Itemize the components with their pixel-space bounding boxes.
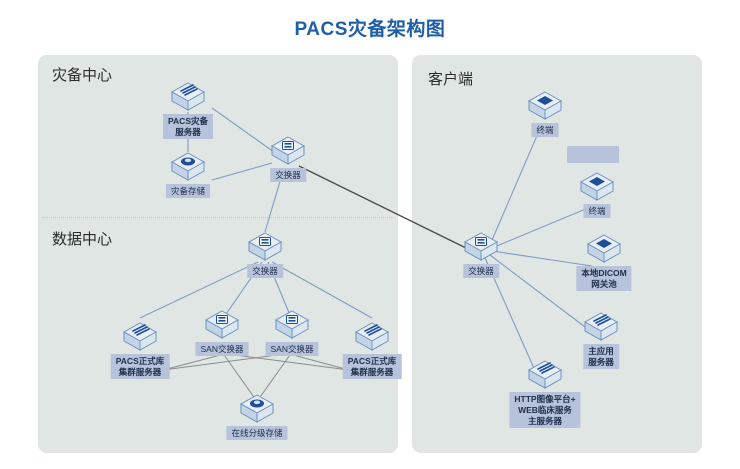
node-label: 主应用 服务器	[583, 344, 619, 369]
node-label: 交换器	[247, 264, 283, 278]
panel-left	[38, 55, 398, 453]
node-label: 终端	[531, 123, 558, 137]
node-label: 终端	[583, 204, 610, 218]
node-label: PACS正式库 集群服务器	[111, 354, 170, 379]
node-label: HTTP图像平台+ WEB临床服务 主服务器	[509, 392, 580, 428]
node-label: 在线分级存储	[226, 426, 287, 440]
storage-icon	[238, 392, 276, 426]
switch-icon	[246, 230, 284, 264]
switch-icon	[273, 308, 311, 342]
panel-title-dr-center: 灾备中心	[52, 64, 112, 85]
terminal-icon	[578, 170, 616, 204]
switch-icon	[462, 230, 500, 264]
panel-left-divider	[42, 217, 394, 218]
node-label: PACS正式库 集群服务器	[343, 354, 402, 379]
terminal-icon	[585, 232, 623, 266]
node-label: 交换器	[463, 264, 499, 278]
panel-title-data-center: 数据中心	[52, 228, 112, 249]
node-label: PACS灾备 服务器	[163, 114, 213, 139]
server-icon	[121, 320, 159, 354]
switch-icon	[269, 134, 307, 168]
node-label: 交换器	[270, 168, 306, 182]
diagram-canvas: PACS灾备架构图 灾备中心 数据中心 客户端	[0, 0, 740, 469]
node-label: SAN交换器	[196, 342, 249, 356]
server-icon	[169, 80, 207, 114]
server-icon	[582, 310, 620, 344]
node-label: 灾备存储	[166, 184, 210, 198]
switch-icon	[203, 308, 241, 342]
server-icon	[526, 358, 564, 392]
node-label: 本地DICOM 网关池	[576, 266, 631, 291]
page-title: PACS灾备架构图	[0, 14, 740, 41]
blank-label-box	[567, 146, 619, 163]
storage-icon	[169, 150, 207, 184]
node-label: SAN交换器	[266, 342, 319, 356]
panel-title-client: 客户端	[428, 68, 473, 89]
server-icon	[353, 320, 391, 354]
terminal-icon	[526, 89, 564, 123]
